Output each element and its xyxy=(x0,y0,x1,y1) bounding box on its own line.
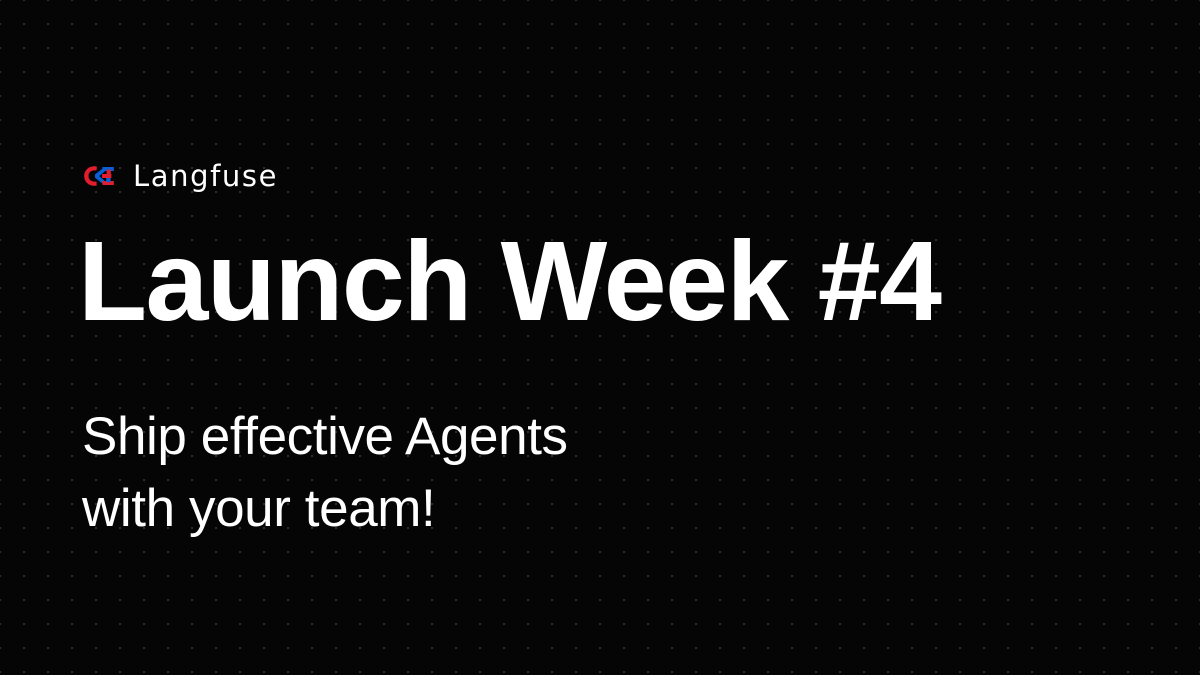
hero-subtitle-line-1: Ship effective Agents xyxy=(82,401,568,473)
launch-week-hero-banner: Langfuse Launch Week #4 Ship effective A… xyxy=(0,0,1200,675)
hero-subtitle-line-2: with your team! xyxy=(82,473,568,545)
brand-lockup: Langfuse xyxy=(82,156,278,196)
page-title: Launch Week #4 xyxy=(78,225,940,338)
langfuse-logo-icon xyxy=(82,164,116,188)
brand-name: Langfuse xyxy=(133,162,278,191)
hero-subtitle: Ship effective Agents with your team! xyxy=(82,401,568,545)
